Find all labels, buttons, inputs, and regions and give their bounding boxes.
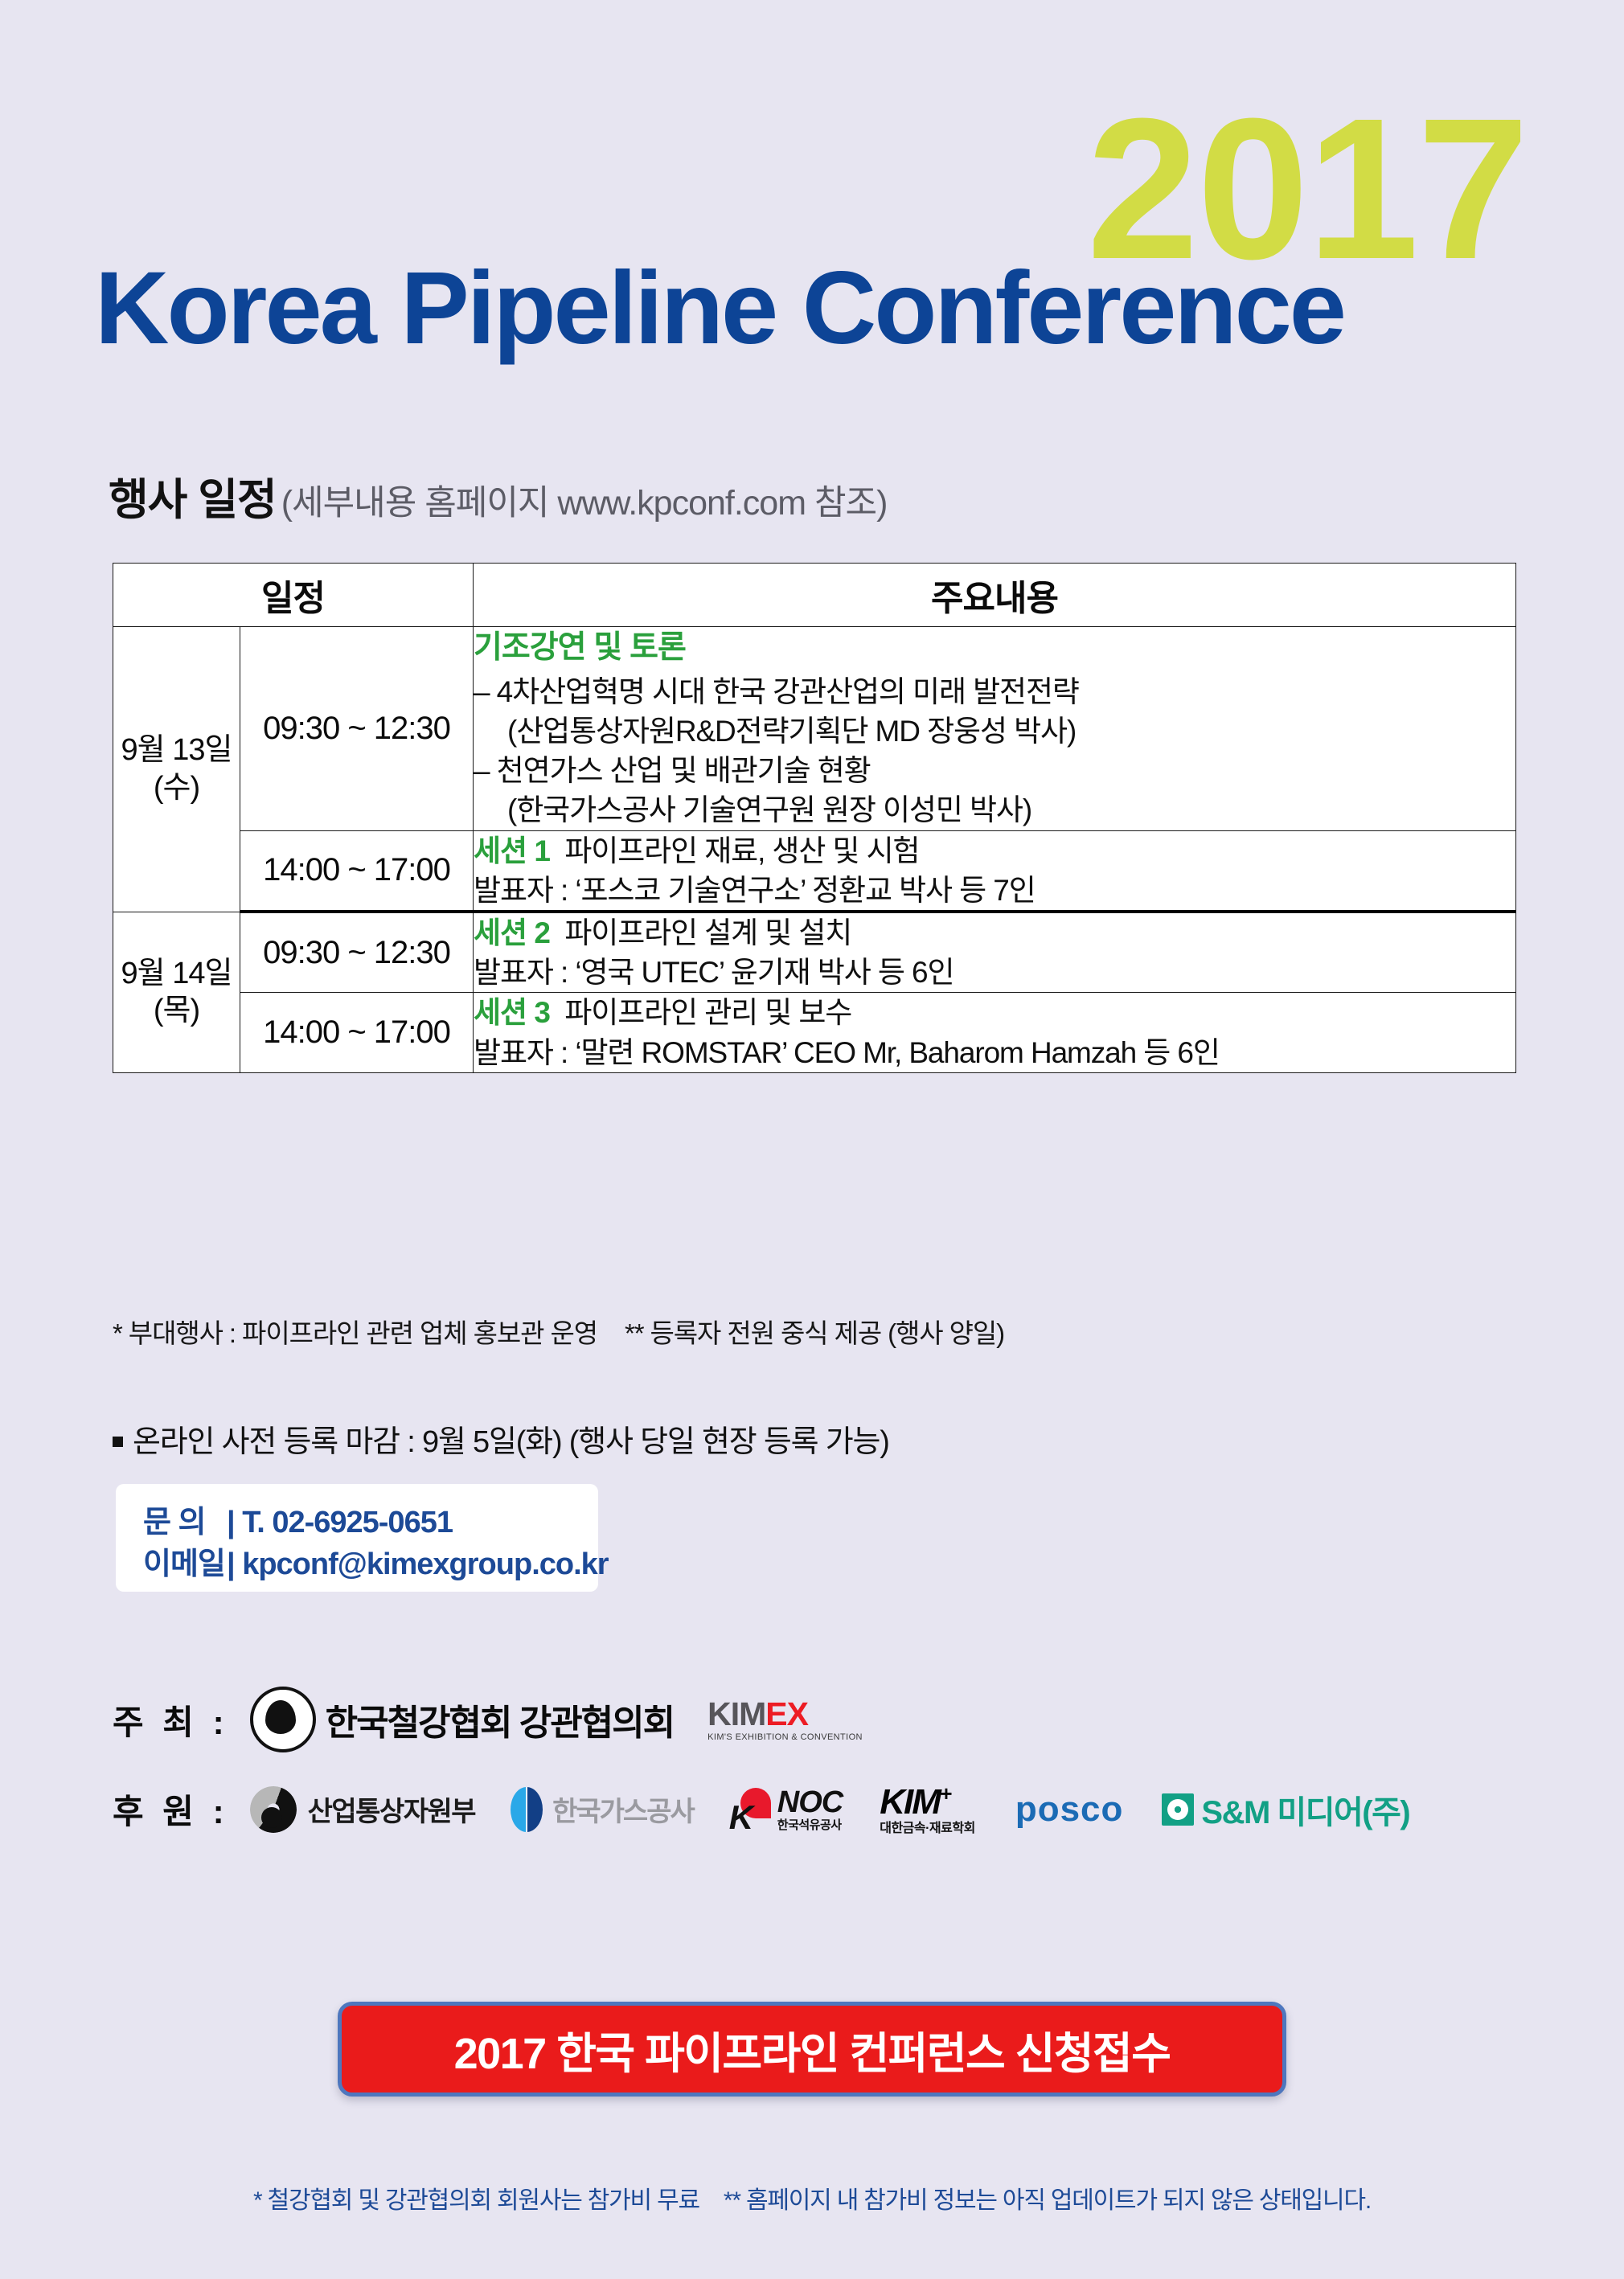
logo-kim: KIM+ 대한금속·재료학회 [880, 1783, 975, 1835]
schedule-heading-sub: (세부내용 홈페이지 www.kpconf.com 참조) [281, 484, 888, 523]
contact-phone-value[interactable]: T. 02-6925-0651 [242, 1506, 453, 1539]
kimex-tagline: KIM'S EXHIBITION & CONVENTION [707, 1733, 863, 1742]
content-cell: 기조강연 및 토론 – 4차산업혁명 시대 한국 강관산업의 미래 발전전략 (… [474, 627, 1516, 831]
keynote-line-4: (한국가스공사 기술연구원 원장 이성민 박사) [474, 790, 1515, 830]
snm-mark-icon [1162, 1793, 1194, 1826]
session-tag: 세션 2 [474, 916, 550, 949]
table-row: 9월 13일 (수) 09:30 ~ 12:30 기조강연 및 토론 – 4차산… [113, 627, 1516, 831]
schedule-table: 일정 주요내용 9월 13일 (수) 09:30 ~ 12:30 기조강연 및 … [113, 563, 1516, 1073]
contact-box: 문 의| T. 02-6925-0651 이메일| kpconf@kimexgr… [116, 1484, 598, 1592]
contact-email-value[interactable]: kpconf@kimexgroup.co.kr [242, 1547, 608, 1581]
table-row: 14:00 ~ 17:00 세션 3 파이프라인 관리 및 보수 발표자 : ‘… [113, 993, 1516, 1072]
date-label: 9월 13일 [113, 732, 240, 769]
content-cell: 세션 2 파이프라인 설계 및 설치 발표자 : ‘영국 UTEC’ 윤기재 박… [474, 912, 1516, 993]
posco-logo-icon: posco [1015, 1789, 1124, 1830]
organizers-label: 주 최 : [113, 1695, 229, 1744]
sponsors-label: 후 원 : [113, 1785, 229, 1834]
schedule-heading-main: 행사 일정 [109, 476, 277, 524]
session-title: 파이프라인 관리 및 보수 [564, 996, 851, 1029]
session-title: 파이프라인 재료, 생산 및 시험 [564, 834, 919, 867]
sponsors-row: 후 원 : 산업통상자원부 한국가스공사 NOC 한국석유공사 KIM+ 대한금… [113, 1783, 1409, 1835]
kimex-name-k: KIM [707, 1695, 765, 1732]
table-note-1: * 부대행사 : 파이프라인 관련 업체 홍보관 운영 [113, 1318, 597, 1348]
column-header-content: 주요내용 [474, 564, 1516, 627]
content-cell: 세션 3 파이프라인 관리 및 보수 발표자 : ‘말련 ROMSTAR’ CE… [474, 993, 1516, 1072]
kimex-logo-icon: KIMEX KIM'S EXHIBITION & CONVENTION [707, 1698, 863, 1742]
time-cell: 09:30 ~ 12:30 [240, 912, 474, 993]
logo-snm: S&M 미디어(주) [1162, 1786, 1409, 1833]
schedule-heading: 행사 일정(세부내용 홈페이지 www.kpconf.com 참조) [109, 478, 887, 522]
square-bullet-icon [113, 1437, 123, 1447]
session-title-line: 세션 1 파이프라인 재료, 생산 및 시험 [474, 831, 1515, 871]
apply-now-button[interactable]: 2017 한국 파이프라인 컨퍼런스 신청접수 [338, 2002, 1286, 2097]
logo-kosa: 한국철강협회 강관협의회 [250, 1687, 675, 1752]
footer-note-1: * 철강협회 및 강관협의회 회원사는 참가비 무료 [253, 2187, 699, 2214]
kosa-seal-icon [250, 1687, 316, 1752]
keynote-line-2: (산업통상자원R&D전략기획단 MD 장웅성 박사) [474, 711, 1515, 751]
knoc-sub: 한국석유공사 [777, 1819, 843, 1831]
kimex-name-ex: EX [765, 1695, 808, 1732]
kosa-name: 한국철강협회 강관협의회 [326, 1694, 675, 1745]
kogas-name: 한국가스공사 [552, 1789, 694, 1829]
registration-note: 온라인 사전 등록 마감 : 9월 5일(화) (행사 당일 현장 등록 가능) [113, 1416, 889, 1461]
logo-kogas: 한국가스공사 [511, 1787, 694, 1832]
table-row: 14:00 ~ 17:00 세션 1 파이프라인 재료, 생산 및 시험 발표자… [113, 830, 1516, 912]
keynote-line-3: – 천연가스 산업 및 배관기술 현황 [474, 751, 1515, 790]
session-presenter: 발표자 : ‘포스코 기술연구소’ 정환교 박사 등 7인 [474, 871, 1515, 910]
logo-kimex: KIMEX KIM'S EXHIBITION & CONVENTION [707, 1698, 863, 1742]
session-presenter: 발표자 : ‘영국 UTEC’ 윤기재 박사 등 6인 [474, 953, 1515, 992]
registration-note-text: 온라인 사전 등록 마감 : 9월 5일(화) (행사 당일 현장 등록 가능) [133, 1425, 889, 1459]
table-notes: * 부대행사 : 파이프라인 관련 업체 홍보관 운영** 등록자 전원 중식 … [113, 1312, 1004, 1351]
session-title-line: 세션 2 파이프라인 설계 및 설치 [474, 913, 1515, 953]
motie-taegeuk-icon [250, 1786, 297, 1833]
apply-now-button-label: 2017 한국 파이프라인 컨퍼런스 신청접수 [454, 2018, 1171, 2081]
kim-name: KIM [880, 1782, 940, 1822]
motie-name: 산업통상자원부 [308, 1789, 475, 1829]
date-cell-day1: 9월 13일 (수) [113, 627, 240, 912]
knoc-text: NOC 한국석유공사 [777, 1787, 843, 1831]
content-cell: 세션 1 파이프라인 재료, 생산 및 시험 발표자 : ‘포스코 기술연구소’… [474, 830, 1516, 912]
column-header-schedule: 일정 [113, 564, 474, 627]
table-header-row: 일정 주요내용 [113, 564, 1516, 627]
table-row: 9월 14일 (목) 09:30 ~ 12:30 세션 2 파이프라인 설계 및… [113, 912, 1516, 993]
kim-plus: + [940, 1781, 950, 1806]
contact-phone-line: 문 의| T. 02-6925-0651 [143, 1502, 598, 1543]
kogas-mark-icon [511, 1787, 543, 1832]
logo-motie: 산업통상자원부 [250, 1786, 475, 1833]
kim-logo-icon: KIM+ 대한금속·재료학회 [880, 1783, 975, 1835]
knoc-mark-icon [729, 1788, 773, 1831]
kim-sub: 대한금속·재료학회 [880, 1822, 975, 1835]
session-title-line: 세션 3 파이프라인 관리 및 보수 [474, 993, 1515, 1032]
keynote-topic-heading: 기조강연 및 토론 [474, 627, 1515, 669]
poster-header: 2017 Korea Pipeline Conference [0, 0, 1624, 418]
time-cell: 14:00 ~ 17:00 [240, 993, 474, 1072]
logo-knoc: NOC 한국석유공사 [729, 1787, 843, 1831]
table-note-2: ** 등록자 전원 중식 제공 (행사 양일) [625, 1318, 1004, 1348]
session-tag: 세션 3 [474, 996, 550, 1029]
footer-note: * 철강협회 및 강관협의회 회원사는 참가비 무료** 홈페이지 내 참가비 … [0, 2180, 1624, 2215]
organizers-row: 주 최 : 한국철강협회 강관협의회 KIMEX KIM'S EXHIBITIO… [113, 1687, 863, 1752]
session-presenter: 발표자 : ‘말련 ROMSTAR’ CEO Mr, Baharom Hamza… [474, 1033, 1515, 1072]
contact-separator: | [227, 1547, 235, 1581]
logo-posco: posco [1015, 1789, 1124, 1830]
page-title: Korea Pipeline Conference [95, 257, 1344, 360]
time-cell: 14:00 ~ 17:00 [240, 830, 474, 912]
snm-name: S&M 미디어(주) [1201, 1786, 1409, 1833]
date-cell-day2: 9월 14일 (목) [113, 912, 240, 1072]
session-title: 파이프라인 설계 및 설치 [564, 916, 851, 949]
contact-separator: | [227, 1506, 235, 1539]
footer-note-2: ** 홈페이지 내 참가비 정보는 아직 업데이트가 되지 않은 상태입니다. [724, 2187, 1371, 2214]
contact-email-line: 이메일| kpconf@kimexgroup.co.kr [143, 1543, 598, 1585]
knoc-name: NOC [777, 1787, 843, 1818]
weekday-label: (목) [113, 992, 240, 1029]
session-tag: 세션 1 [474, 834, 550, 867]
weekday-label: (수) [113, 769, 240, 806]
date-label: 9월 14일 [113, 955, 240, 992]
time-cell: 09:30 ~ 12:30 [240, 627, 474, 831]
contact-email-label: 이메일 [143, 1543, 227, 1585]
contact-phone-label: 문 의 [143, 1502, 227, 1543]
keynote-line-1: – 4차산업혁명 시대 한국 강관산업의 미래 발전전략 [474, 672, 1515, 711]
